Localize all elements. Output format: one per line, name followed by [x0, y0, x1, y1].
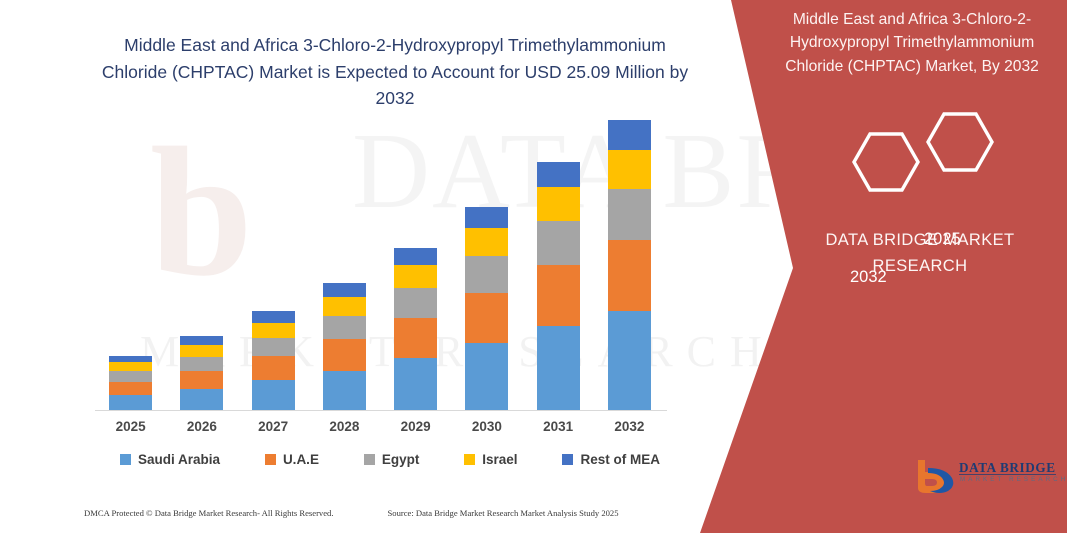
hexagon-badges: 2032 2025	[832, 112, 1002, 212]
right-red-panel: Middle East and Africa 3-Chloro-2-Hydrox…	[0, 0, 1067, 533]
hexagon-2032-shape	[854, 134, 918, 190]
right-panel-title: Middle East and Africa 3-Chloro-2-Hydrox…	[762, 8, 1062, 78]
dbmr-logo-line2: MARKET RESEARCH	[960, 476, 1067, 483]
dbmr-logo-mark	[912, 458, 958, 494]
dbmr-logo-divider	[959, 474, 1056, 475]
hexagon-outlines	[832, 112, 1002, 212]
hexagon-2025-shape	[928, 114, 992, 170]
dbmr-logo: DATA BRIDGE MARKET RESEARCH	[912, 458, 1062, 498]
right-panel-brand: DATA BRIDGE MARKET RESEARCH	[790, 228, 1050, 279]
infographic-canvas: b DATA BRIDGE MARKET RESEARCH Middle Eas…	[0, 0, 1067, 533]
